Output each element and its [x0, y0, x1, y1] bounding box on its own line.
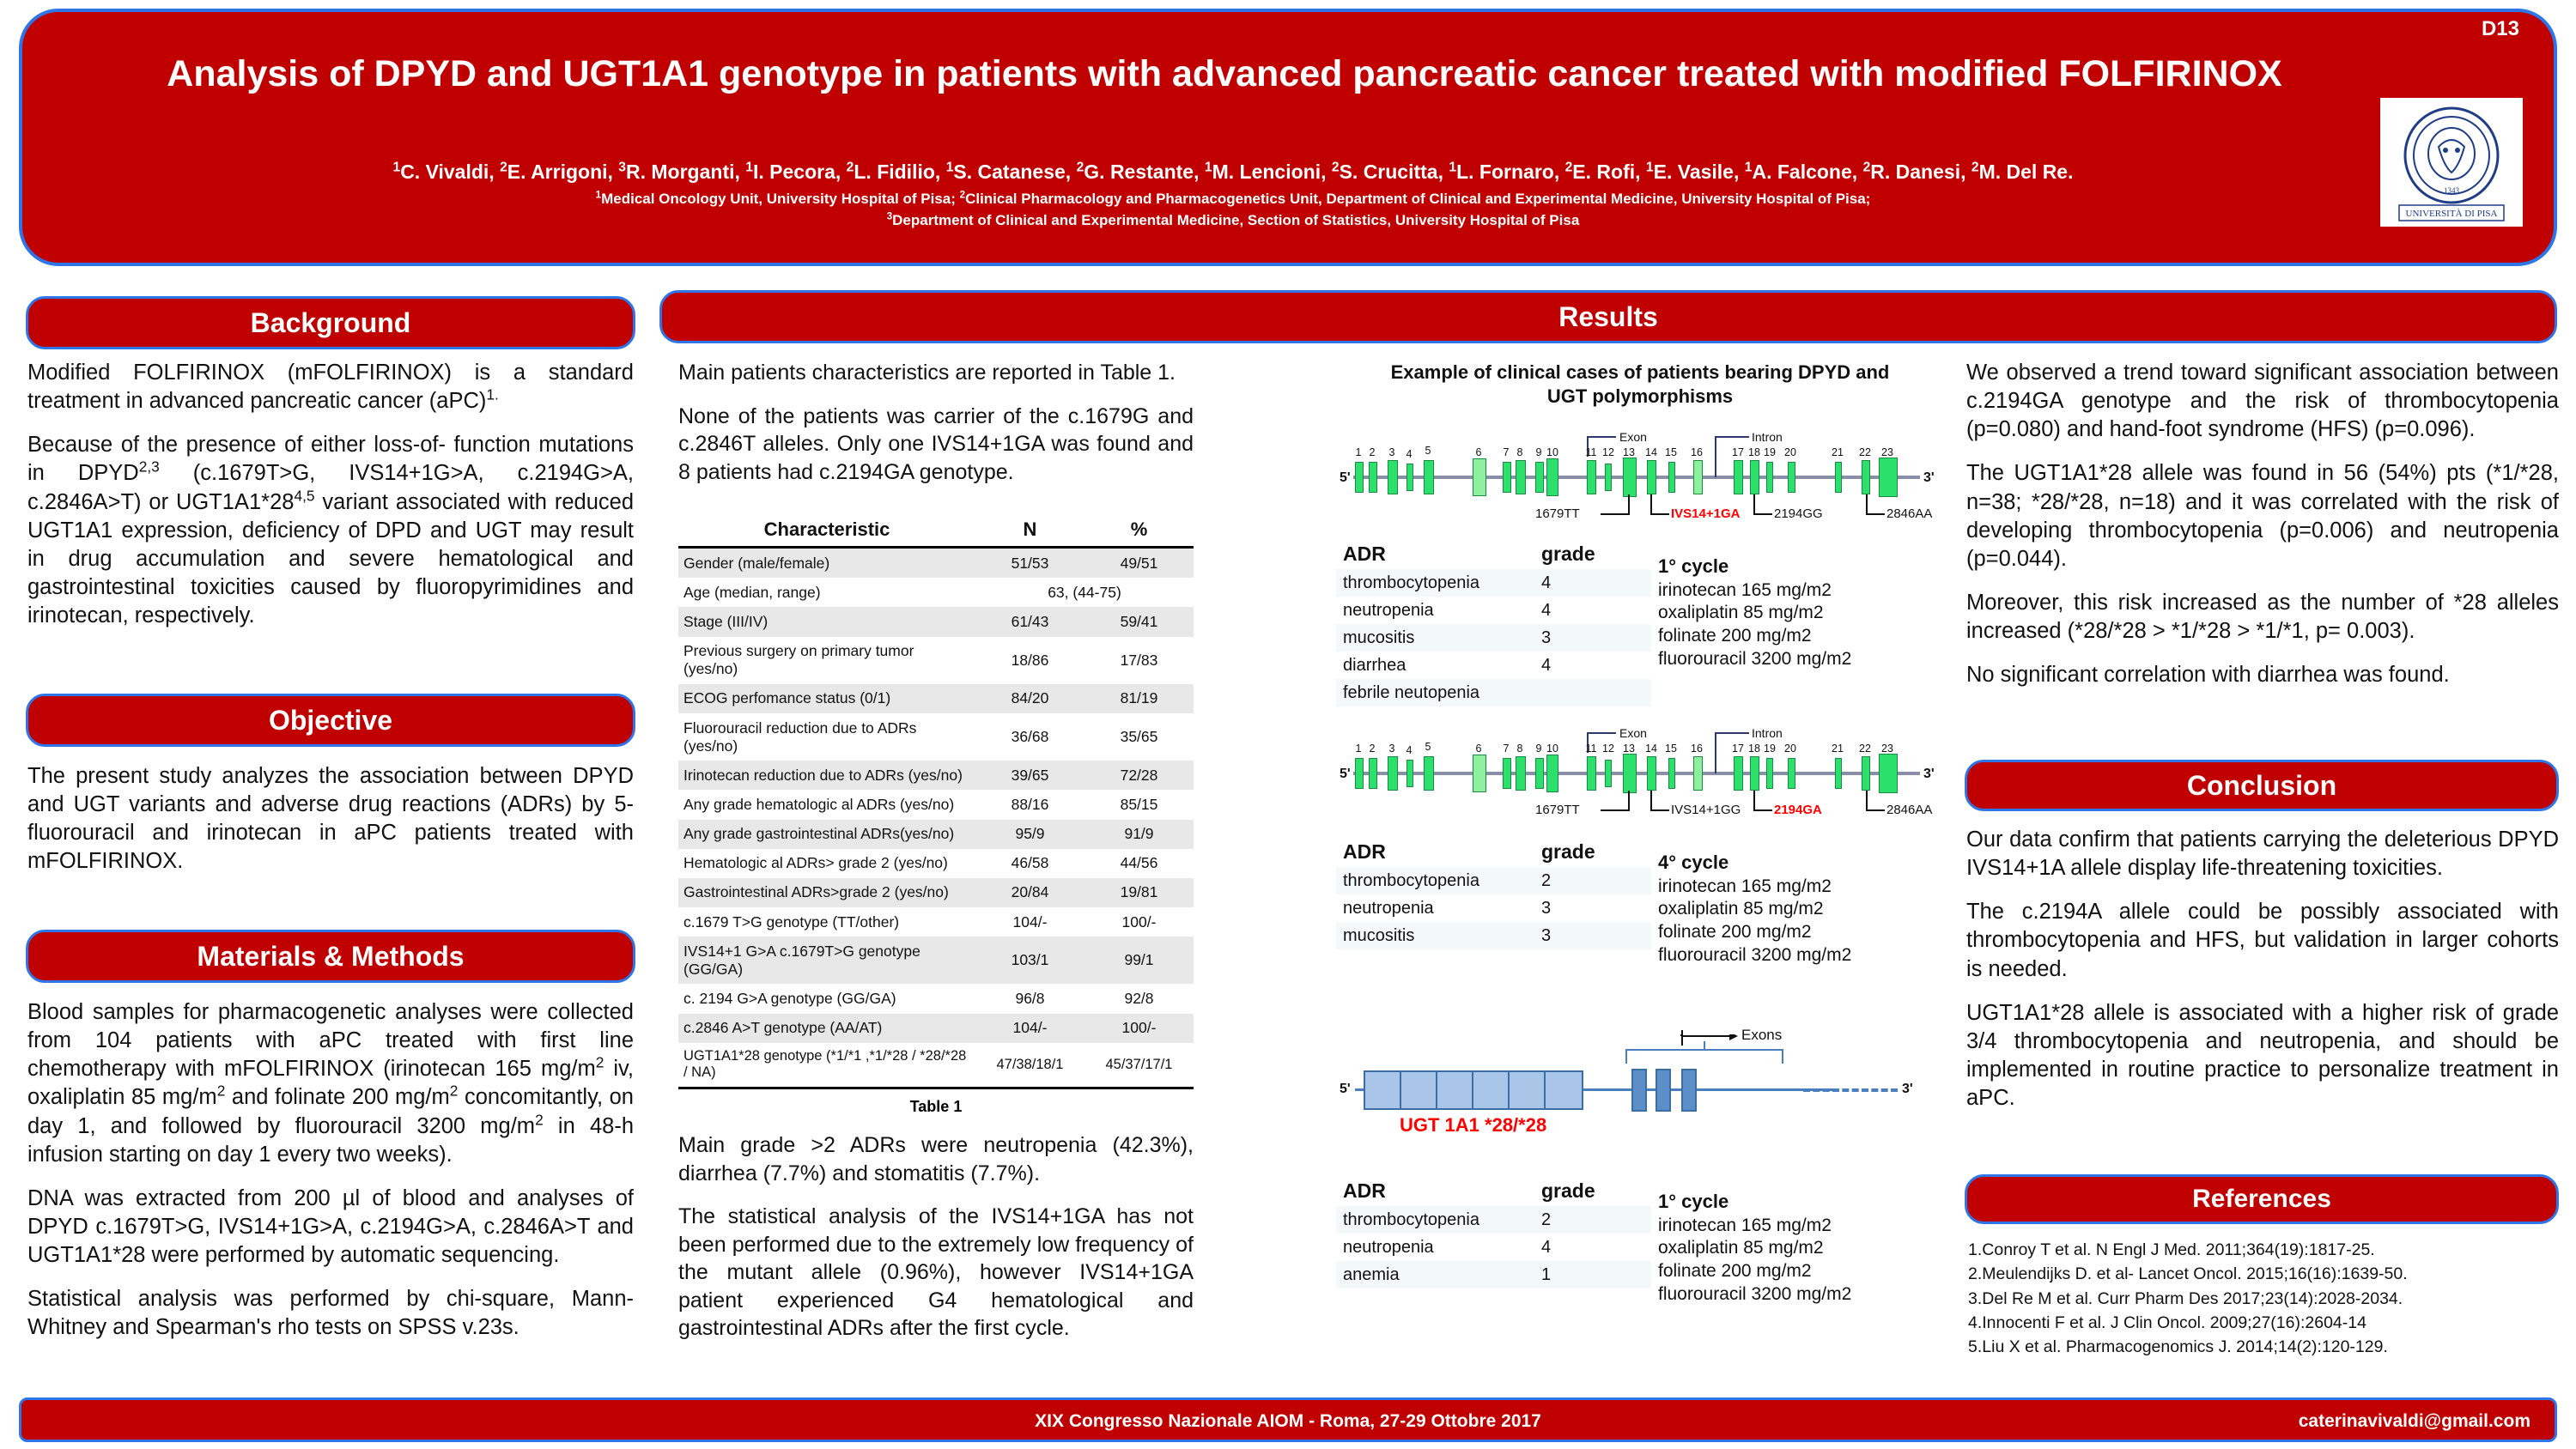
congress-label: XIX Congresso Nazionale AIOM - Roma, 27-… — [21, 1411, 2555, 1432]
adr-grade: 3 — [1534, 894, 1651, 922]
adr-grade: 4 — [1534, 569, 1651, 597]
exon-box — [1647, 460, 1656, 494]
callout-leader — [1753, 791, 1755, 811]
table-row: Age (median, range)63, (44-75) — [678, 578, 1194, 607]
five-prime-label-case2: 5' — [1340, 767, 1351, 782]
callout-leader — [1866, 809, 1885, 811]
exon-box — [1623, 754, 1637, 793]
cell-n: 96/8 — [975, 984, 1084, 1013]
exon-number: 6 — [1470, 743, 1487, 755]
table1-body: Gender (male/female)51/5349/51 Age (medi… — [678, 548, 1194, 1088]
adr-col-header-adr: ADR — [1336, 837, 1534, 867]
cell-n: 20/84 — [975, 878, 1084, 907]
adr-grade — [1534, 949, 1651, 977]
intron-label-case1: Intron — [1752, 430, 1783, 444]
table-row: Gastrointestinal ADRs>grade 2 (yes/no)20… — [678, 878, 1194, 907]
figure-title-line2: UGT polymorphisms — [1340, 385, 1941, 409]
results-col1-text-bottom: Main grade >2 ADRs were neutropenia (42.… — [678, 1131, 1194, 1343]
adr-grade: 4 — [1534, 597, 1651, 624]
intron-pointer-line-v — [1715, 732, 1716, 773]
results-paragraph-2: None of the patients was carrier of the … — [678, 403, 1194, 487]
callout-2194-case1: 2194GG — [1774, 506, 1823, 521]
exon-box — [1750, 460, 1759, 494]
callout-leader — [1866, 513, 1885, 515]
exon-box — [1369, 462, 1377, 493]
page-title: Analysis of DPYD and UGT1A1 genotype in … — [151, 53, 2298, 95]
cell-pct: 45/37/17/1 — [1084, 1043, 1194, 1088]
cell-pct: 100/- — [1084, 1014, 1194, 1043]
cell-n: 63, (44-75) — [975, 578, 1194, 607]
adr-table-case1: ADR grade 1° cycle irinotecan 165 mg/m2 … — [1336, 539, 1920, 706]
exon-number: 23 — [1877, 743, 1898, 755]
cell-characteristic: c.2846 A>T genotype (AA/AT) — [678, 1014, 975, 1043]
three-prime-label-case1: 3' — [1923, 470, 1935, 486]
three-prime-label-case2: 3' — [1923, 767, 1935, 782]
adr-header-row: ADR grade 1° cycle irinotecan 165 mg/m2 … — [1336, 1176, 1920, 1206]
callout-1679tt-case2: 1679TT — [1535, 803, 1580, 817]
col-header-pct: % — [1084, 513, 1194, 548]
figure-title-line1: Example of clinical cases of patients be… — [1340, 361, 1941, 385]
svg-text:UNIVERSITÀ DI PISA: UNIVERSITÀ DI PISA — [2406, 209, 2498, 219]
objective-paragraph-1: The present study analyzes the associati… — [27, 762, 634, 876]
exon-box — [1355, 758, 1364, 789]
adr-name: anemia — [1336, 1261, 1534, 1288]
objective-text: The present study analyzes the associati… — [27, 762, 634, 876]
cell-pct: 91/9 — [1084, 820, 1194, 849]
section-title-conclusion: Conclusion — [2187, 770, 2336, 802]
affiliation-3: Department of Clinical and Experimental … — [892, 212, 1579, 228]
cycle-drug-line: oxaliplatin 85 mg/m2 — [1658, 899, 1824, 919]
cell-pct: 99/1 — [1084, 937, 1194, 984]
adr-grade: 4 — [1534, 1234, 1651, 1261]
results-col3-paragraph-2: The UGT1A1*28 allele was found in 56 (54… — [1966, 459, 2559, 573]
callout-leader — [1650, 513, 1669, 515]
cycle-drug-line: oxaliplatin 85 mg/m2 — [1658, 1238, 1824, 1258]
table-row: Gender (male/female)51/5349/51 — [678, 548, 1194, 579]
adr-grade: 4 — [1534, 652, 1651, 679]
ugt-exon-block — [1400, 1070, 1439, 1110]
exon-number: 21 — [1827, 446, 1848, 458]
callout-leader — [1650, 494, 1652, 515]
callout-leader — [1601, 513, 1630, 515]
exon-box — [1388, 756, 1398, 791]
col-header-characteristic: Characteristic — [678, 513, 975, 548]
exon-number: 3 — [1383, 743, 1400, 755]
adr-name: neutropenia — [1336, 1234, 1534, 1261]
ugt-gene-label: UGT 1A1 *28/*28 — [1400, 1114, 1546, 1137]
exon-number: 21 — [1827, 743, 1848, 755]
exon-box — [1835, 758, 1842, 789]
exon-box — [1587, 756, 1596, 791]
cell-pct: 85/15 — [1084, 790, 1194, 819]
exon-pointer-line-h — [1587, 436, 1616, 438]
callout-ivs14-case2: IVS14+1GG — [1671, 803, 1741, 817]
cell-characteristic: c.1679 T>G genotype (TT/other) — [678, 907, 975, 937]
exon-number: 16 — [1686, 743, 1707, 755]
cell-characteristic: Age (median, range) — [678, 578, 975, 607]
section-banner-references: References — [1965, 1174, 2559, 1224]
reference-item: 1.Conroy T et al. N Engl J Med. 2011;364… — [1968, 1238, 2561, 1262]
section-banner-conclusion: Conclusion — [1965, 760, 2559, 811]
cell-n: 47/38/18/1 — [975, 1043, 1084, 1088]
table-row: Previous surgery on primary tumor (yes/n… — [678, 637, 1194, 684]
adr-grade: 3 — [1534, 624, 1651, 652]
cell-characteristic: ECOG perfomance status (0/1) — [678, 684, 975, 713]
exon-number: 22 — [1855, 743, 1875, 755]
table-row: IVS14+1 G>A c.1679T>G genotype (GG/GA)10… — [678, 937, 1194, 984]
cell-characteristic: IVS14+1 G>A c.1679T>G genotype (GG/GA) — [678, 937, 975, 984]
exon-number: 4 — [1400, 744, 1418, 756]
exon-number: 13 — [1619, 743, 1639, 755]
exon-number: 16 — [1686, 446, 1707, 458]
cell-characteristic: Fluorouracil reduction due to ADRs (yes/… — [678, 713, 975, 761]
adr-name: diarrhea — [1336, 652, 1534, 679]
exon-number: 15 — [1661, 743, 1681, 755]
cell-n: 18/86 — [975, 637, 1084, 684]
conclusion-paragraph-2: The c.2194A allele could be possibly ass… — [1966, 898, 2559, 983]
adr-grade: 2 — [1534, 1206, 1651, 1234]
cell-n: 95/9 — [975, 820, 1084, 849]
cell-characteristic: Hematologic al ADRs> grade 2 (yes/no) — [678, 849, 975, 878]
callout-leader — [1866, 791, 1868, 811]
cell-characteristic: Gender (male/female) — [678, 548, 975, 579]
reference-item: 4.Innocenti F et al. J Clin Oncol. 2009;… — [1968, 1311, 2561, 1335]
three-prime-label-case3: 3' — [1902, 1082, 1913, 1097]
adr-name: mucositis — [1336, 624, 1534, 652]
materials-paragraph-1: Blood samples for pharmacogenetic analys… — [27, 998, 634, 1169]
exon-box — [1668, 758, 1675, 789]
exon-box — [1879, 458, 1898, 497]
exon-box — [1388, 460, 1398, 494]
cell-n: 84/20 — [975, 684, 1084, 713]
five-prime-label-case1: 5' — [1340, 470, 1351, 486]
section-title-background: Background — [251, 307, 411, 339]
five-prime-label-case3: 5' — [1340, 1082, 1351, 1097]
section-banner-objective: Objective — [26, 694, 635, 747]
table-row: Any grade gastrointestinal ADRs(yes/no)9… — [678, 820, 1194, 849]
exon-number: 5 — [1419, 445, 1437, 457]
background-text: Modified FOLFIRINOX (mFOLFIRINOX) is a s… — [27, 359, 634, 630]
exon-box — [1766, 758, 1773, 789]
cell-characteristic: Any grade hematologic al ADRs (yes/no) — [678, 790, 975, 819]
poster-header: D13 Analysis of DPYD and UGT1A1 genotype… — [19, 9, 2557, 266]
callout-leader — [1650, 809, 1669, 811]
dpyd-gene-diagram-case1: 5' 3' Exon Intron 1 2 3 — [1340, 429, 1949, 537]
cycle-drug-line: fluorouracil 3200 mg/m2 — [1658, 649, 1851, 669]
cell-characteristic: c. 2194 G>A genotype (GG/GA) — [678, 984, 975, 1013]
exon-number: 14 — [1641, 743, 1662, 755]
exon-pointer-line-h — [1587, 732, 1616, 734]
cell-n: 39/65 — [975, 761, 1084, 790]
adr-name: febrile neutopenia — [1336, 679, 1534, 706]
exon-box — [1668, 462, 1675, 493]
section-title-references: References — [2192, 1185, 2331, 1214]
adr-grade: 2 — [1534, 867, 1651, 894]
exon-number: 8 — [1511, 446, 1528, 458]
cell-n: 103/1 — [975, 937, 1084, 984]
exon-number: 10 — [1542, 743, 1563, 755]
callout-1679tt-case1: 1679TT — [1535, 506, 1580, 521]
cycle-title-case2: 4° cycle — [1658, 852, 1728, 873]
adr-col-header-grade: grade — [1534, 837, 1651, 867]
adr-name: thrombocytopenia — [1336, 867, 1534, 894]
table1-wrapper: Characteristic N % Gender (male/female)5… — [678, 513, 1194, 1116]
university-crest-icon: 1343 UNIVERSITÀ DI PISA — [2387, 102, 2516, 222]
callout-leader — [1650, 791, 1652, 811]
exon-box — [1503, 758, 1511, 789]
cell-n: 88/16 — [975, 790, 1084, 819]
exon-box — [1647, 756, 1656, 791]
exon-box — [1605, 760, 1612, 787]
cell-characteristic: Irinotecan reduction due to ADRs (yes/no… — [678, 761, 975, 790]
adr-name: mucositis — [1336, 922, 1534, 949]
cycle-info-case2: 4° cycle irinotecan 165 mg/m2 oxaliplati… — [1658, 851, 1913, 967]
callout-2846-case1: 2846AA — [1886, 506, 1932, 521]
cell-n: 104/- — [975, 1014, 1084, 1043]
table-row: Irinotecan reduction due to ADRs (yes/no… — [678, 761, 1194, 790]
exon-box — [1693, 756, 1703, 791]
poster-id-badge: D13 — [2482, 17, 2519, 41]
cell-pct: 72/28 — [1084, 761, 1194, 790]
exon-box — [1734, 460, 1743, 494]
callout-leader — [1628, 791, 1630, 811]
reference-item: 2.Meulendijks D. et al- Lancet Oncol. 20… — [1968, 1262, 2561, 1286]
callout-ivs14-case1: IVS14+1GA — [1671, 506, 1740, 521]
exon-box — [1473, 755, 1486, 792]
exon-box — [1473, 458, 1486, 496]
svg-text:1343: 1343 — [2444, 186, 2460, 195]
conclusion-text: Our data confirm that patients carrying … — [1966, 826, 2559, 1113]
cycle-drug-line: folinate 200 mg/m2 — [1658, 1261, 1812, 1281]
adr-col-header-grade: grade — [1534, 539, 1651, 569]
ugt-exon-block — [1544, 1070, 1583, 1110]
table-row: c. 2194 G>A genotype (GG/GA)96/892/8 — [678, 984, 1194, 1013]
adr-grade: 1 — [1534, 1261, 1651, 1288]
intron-pointer-line-h — [1715, 732, 1749, 734]
exon-label-case1: Exon — [1619, 430, 1647, 444]
exon-box — [1835, 462, 1842, 493]
callout-leader — [1753, 494, 1755, 515]
adr-name — [1336, 1288, 1534, 1316]
exon-box — [1766, 462, 1773, 493]
exon-number: 20 — [1780, 743, 1801, 755]
ugt-exon-block — [1508, 1070, 1547, 1110]
reference-item: 3.Del Re M et al. Curr Pharm Des 2017;23… — [1968, 1287, 2561, 1311]
adr-name: thrombocytopenia — [1336, 1206, 1534, 1234]
materials-paragraph-3: Statistical analysis was performed by ch… — [27, 1285, 634, 1342]
ugt-exon-narrow — [1656, 1069, 1671, 1112]
table-header-row: Characteristic N % — [678, 513, 1194, 548]
poster-footer: XIX Congresso Nazionale AIOM - Roma, 27-… — [19, 1397, 2557, 1442]
cycle-drug-line: fluorouracil 3200 mg/m2 — [1658, 945, 1851, 965]
cycle-info-case1: 1° cycle irinotecan 165 mg/m2 oxaliplati… — [1658, 555, 1913, 670]
table1-caption: Table 1 — [678, 1098, 1194, 1116]
cell-pct: 19/81 — [1084, 878, 1194, 907]
materials-text: Blood samples for pharmacogenetic analys… — [27, 998, 634, 1343]
references-list: 1.Conroy T et al. N Engl J Med. 2011;364… — [1968, 1238, 2561, 1359]
adr-name: neutropenia — [1336, 597, 1534, 624]
table-row: UGT1A1*28 genotype (*1/*1 ,*1/*28 / *28/… — [678, 1043, 1194, 1088]
exon-box — [1788, 462, 1795, 493]
table-row: c.2846 A>T genotype (AA/AT)104/-100/- — [678, 1014, 1194, 1043]
cell-characteristic: Gastrointestinal ADRs>grade 2 (yes/no) — [678, 878, 975, 907]
exon-number: 4 — [1400, 448, 1418, 460]
cell-pct: 59/41 — [1084, 607, 1194, 636]
exon-box — [1503, 462, 1511, 493]
cell-pct: 35/65 — [1084, 713, 1194, 761]
table-row: Any grade hematologic al ADRs (yes/no)88… — [678, 790, 1194, 819]
results-paragraph-1: Main patients characteristics are report… — [678, 359, 1194, 387]
cycle-drug-line: folinate 200 mg/m2 — [1658, 922, 1812, 942]
exon-box — [1862, 460, 1870, 494]
exon-box — [1587, 460, 1596, 494]
conclusion-paragraph-3: UGT1A1*28 allele is associated with a hi… — [1966, 999, 2559, 1113]
affiliation-1: Medical Oncology Unit, University Hospit… — [601, 191, 956, 207]
cell-pct: 44/56 — [1084, 849, 1194, 878]
ugt-backbone-dashed — [1803, 1088, 1898, 1092]
adr-grade — [1534, 679, 1651, 706]
cell-characteristic: Stage (III/IV) — [678, 607, 975, 636]
exon-box — [1516, 756, 1526, 791]
exon-box — [1369, 758, 1377, 789]
exon-box — [1424, 460, 1434, 494]
callout-2846-case2: 2846AA — [1886, 803, 1932, 817]
exon-number: 10 — [1542, 446, 1563, 458]
exon-box — [1879, 754, 1898, 793]
table-row: Hematologic al ADRs> grade 2 (yes/no)46/… — [678, 849, 1194, 878]
affiliation-list: 1Medical Oncology Unit, University Hospi… — [74, 189, 2392, 231]
adr-grade — [1534, 1288, 1651, 1316]
exon-number: 8 — [1511, 743, 1528, 755]
results-paragraph-3: Main grade >2 ADRs were neutropenia (42.… — [678, 1131, 1194, 1187]
adr-col-header-grade: grade — [1534, 1176, 1651, 1206]
author-list: 1C. Vivaldi, 2E. Arrigoni, 3R. Morganti,… — [74, 160, 2392, 185]
section-banner-results: Results — [659, 290, 2557, 343]
results-col3-paragraph-3: Moreover, this risk increased as the num… — [1966, 589, 2559, 646]
exon-number: 15 — [1661, 446, 1681, 458]
exon-number: 20 — [1780, 446, 1801, 458]
ugt-exon-narrow — [1631, 1069, 1647, 1112]
exon-label-case2: Exon — [1619, 726, 1647, 740]
exon-box — [1406, 760, 1413, 787]
cell-n: 51/53 — [975, 548, 1084, 579]
dpyd-gene-diagram-case2: 5' 3' Exon Intron 1 2 3 4 — [1340, 725, 1949, 833]
cell-pct: 100/- — [1084, 907, 1194, 937]
exon-number: 2 — [1364, 743, 1381, 755]
section-banner-background: Background — [26, 296, 635, 349]
intron-pointer-line-v — [1715, 436, 1716, 477]
reference-item: 5.Liu X et al. Pharmacogenomics J. 2014;… — [1968, 1335, 2561, 1359]
cell-n: 61/43 — [975, 607, 1084, 636]
exon-box — [1424, 756, 1434, 791]
exon-box — [1516, 460, 1526, 494]
intron-pointer-line-h — [1715, 436, 1749, 438]
exon-number: 19 — [1759, 743, 1780, 755]
cycle-drug-line: irinotecan 165 mg/m2 — [1658, 876, 1832, 896]
callout-leader — [1866, 494, 1868, 515]
cell-characteristic: UGT1A1*28 genotype (*1/*1 ,*1/*28 / *28/… — [678, 1043, 975, 1088]
ugt-exon-narrow — [1681, 1069, 1697, 1112]
cell-characteristic: Previous surgery on primary tumor (yes/n… — [678, 637, 975, 684]
table-row: Fluorouracil reduction due to ADRs (yes/… — [678, 713, 1194, 761]
section-title-materials: Materials & Methods — [197, 941, 464, 973]
adr-name: neutropenia — [1336, 894, 1534, 922]
patient-characteristics-table: Characteristic N % Gender (male/female)5… — [678, 513, 1194, 1089]
results-col1-text-top: Main patients characteristics are report… — [678, 359, 1194, 486]
table-row: c.1679 T>G genotype (TT/other)104/-100/- — [678, 907, 1194, 937]
ugt-exon-block — [1472, 1070, 1511, 1110]
exon-box — [1605, 464, 1612, 491]
adr-header-row: ADR grade 4° cycle irinotecan 165 mg/m2 … — [1336, 837, 1920, 867]
cell-pct: 81/19 — [1084, 684, 1194, 713]
cycle-title-case1: 1° cycle — [1658, 555, 1728, 577]
table-row: Stage (III/IV)61/4359/41 — [678, 607, 1194, 636]
adr-header-row: ADR grade 1° cycle irinotecan 165 mg/m2 … — [1336, 539, 1920, 569]
cell-characteristic: Any grade gastrointestinal ADRs(yes/no) — [678, 820, 975, 849]
table-row: ECOG perfomance status (0/1)84/2081/19 — [678, 684, 1194, 713]
exons-label-case3: Exons — [1741, 1027, 1782, 1044]
exon-box — [1406, 464, 1413, 491]
callout-2194-case2: 2194GA — [1774, 803, 1822, 817]
exon-box — [1535, 758, 1544, 789]
background-paragraph-1: Modified FOLFIRINOX (mFOLFIRINOX) is a s… — [27, 359, 634, 415]
exon-box — [1623, 458, 1637, 497]
intron-label-case2: Intron — [1752, 726, 1783, 740]
cell-n: 104/- — [975, 907, 1084, 937]
exon-box — [1535, 462, 1544, 493]
exon-box — [1693, 460, 1703, 494]
exon-number: 19 — [1759, 446, 1780, 458]
results-paragraph-4: The statistical analysis of the IVS14+1G… — [678, 1203, 1194, 1343]
col-header-n: N — [975, 513, 1084, 548]
exon-number: 5 — [1419, 741, 1437, 753]
adr-cycle-cell: 1° cycle irinotecan 165 mg/m2 oxaliplati… — [1651, 1176, 1920, 1316]
exon-number: 13 — [1619, 446, 1639, 458]
cell-pct: 49/51 — [1084, 548, 1194, 579]
materials-paragraph-2: DNA was extracted from 200 µl of blood a… — [27, 1185, 634, 1270]
exon-box — [1862, 756, 1870, 791]
exon-box — [1734, 756, 1743, 791]
section-banner-materials: Materials & Methods — [26, 930, 635, 983]
adr-grade: 3 — [1534, 922, 1651, 949]
adr-col-header-adr: ADR — [1336, 539, 1534, 569]
exon-box — [1546, 755, 1558, 792]
cycle-drug-line: irinotecan 165 mg/m2 — [1658, 1216, 1832, 1235]
exon-number: 22 — [1855, 446, 1875, 458]
results-col3-paragraph-1: We observed a trend toward significant a… — [1966, 359, 2559, 444]
adr-table-case2: ADR grade 4° cycle irinotecan 165 mg/m2 … — [1336, 837, 1920, 977]
adr-cycle-cell: 1° cycle irinotecan 165 mg/m2 oxaliplati… — [1651, 539, 1920, 706]
cycle-info-case3: 1° cycle irinotecan 165 mg/m2 oxaliplati… — [1658, 1190, 1913, 1306]
figure-title: Example of clinical cases of patients be… — [1340, 361, 1941, 408]
exon-number: 6 — [1470, 446, 1487, 458]
adr-col-header-adr: ADR — [1336, 1176, 1534, 1206]
cell-n: 36/68 — [975, 713, 1084, 761]
exon-number: 14 — [1641, 446, 1662, 458]
ugt1a1-gene-diagram-case3: 5' 3' Exons UGT 1A1 *28/*28 — [1340, 1030, 1949, 1150]
cell-pct: 92/8 — [1084, 984, 1194, 1013]
conclusion-paragraph-1: Our data confirm that patients carrying … — [1966, 826, 2559, 882]
ugt-exon-block — [1364, 1070, 1403, 1110]
callout-leader — [1753, 513, 1772, 515]
adr-name: thrombocytopenia — [1336, 569, 1534, 597]
cycle-drug-line: folinate 200 mg/m2 — [1658, 626, 1812, 646]
cell-n: 46/58 — [975, 849, 1084, 878]
cycle-drug-line: fluorouracil 3200 mg/m2 — [1658, 1284, 1851, 1304]
exon-box — [1355, 462, 1364, 493]
contact-email: caterinavivaldi@gmail.com — [2299, 1411, 2530, 1432]
poster-root: D13 Analysis of DPYD and UGT1A1 genotype… — [0, 0, 2576, 1449]
